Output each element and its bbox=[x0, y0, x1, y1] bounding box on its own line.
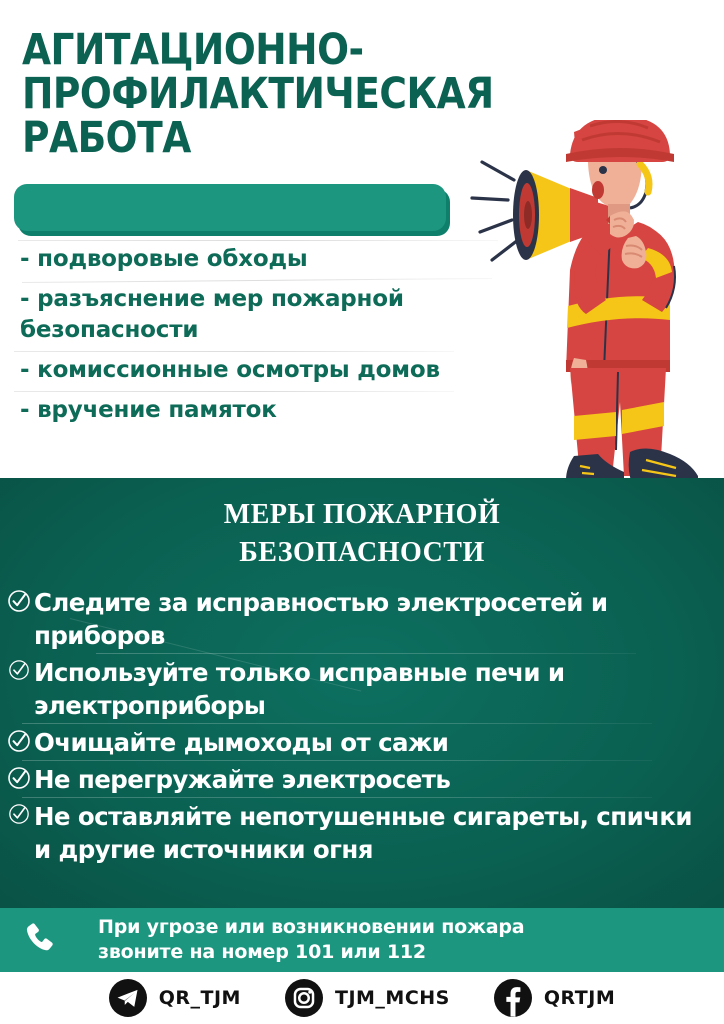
accent-bar bbox=[14, 184, 450, 236]
check-circle-icon bbox=[6, 763, 32, 794]
list-item-label: Используйте только исправные печи и элек… bbox=[34, 656, 702, 722]
list-item-label: Очищайте дымоходы от сажи bbox=[34, 726, 702, 759]
emergency-line-2: звоните на номер 101 или 112 bbox=[98, 940, 524, 965]
check-circle-icon bbox=[6, 656, 32, 687]
section-title-line-2: БЕЗОПАСНОСТИ bbox=[0, 534, 724, 572]
divider bbox=[96, 653, 636, 654]
list-item: Не перегружайте электросеть bbox=[0, 763, 724, 796]
social-links-bar: QR_TJM TJM_MCHS QRTJM bbox=[0, 972, 724, 1024]
emergency-text: При угрозе или возникновении пожара звон… bbox=[70, 915, 524, 965]
social-entry-facebook[interactable]: QRTJM bbox=[494, 979, 615, 1017]
fire-safety-measures-section: МЕРЫ ПОЖАРНОЙ БЕЗОПАСНОСТИ Следите за ис… bbox=[0, 478, 724, 908]
top-section: АГИТАЦИОННО-ПРОФИЛАКТИЧЕСКАЯ РАБОТА - по… bbox=[0, 0, 724, 478]
divider bbox=[22, 797, 652, 798]
firefighter-with-megaphone-illustration bbox=[470, 120, 724, 495]
social-handle: QR_TJM bbox=[159, 987, 241, 1009]
list-item: Очищайте дымоходы от сажи bbox=[0, 726, 724, 759]
social-entry-telegram[interactable]: QR_TJM bbox=[109, 979, 241, 1017]
list-item-label: Не перегружайте электросеть bbox=[34, 763, 702, 796]
page-title: АГИТАЦИОННО-ПРОФИЛАКТИЧЕСКАЯ РАБОТА bbox=[22, 28, 526, 160]
emergency-line-1: При угрозе или возникновении пожара bbox=[98, 915, 524, 940]
emergency-contact-bar: При угрозе или возникновении пожара звон… bbox=[0, 908, 724, 972]
phone-icon bbox=[0, 920, 70, 960]
check-circle-icon bbox=[6, 800, 32, 831]
list-item: Используйте только исправные печи и элек… bbox=[0, 656, 724, 722]
list-item: Не оставляйте непотушенные сигареты, спи… bbox=[0, 800, 724, 866]
list-item: - комиссионные осмотры домов bbox=[0, 352, 540, 391]
section-title: МЕРЫ ПОЖАРНОЙ БЕЗОПАСНОСТИ bbox=[0, 496, 724, 572]
list-item: Следите за исправностью электросетей и п… bbox=[0, 586, 724, 652]
divider bbox=[22, 760, 652, 761]
list-item: - вручение памяток bbox=[0, 392, 540, 431]
accent-bar-fill bbox=[14, 184, 446, 231]
activity-list: - подворовые обходы - разъяснение мер по… bbox=[0, 240, 540, 431]
list-item-label: Не оставляйте непотушенные сигареты, спи… bbox=[34, 800, 702, 866]
list-item-label: Следите за исправностью электросетей и п… bbox=[34, 586, 702, 652]
section-title-line-1: МЕРЫ ПОЖАРНОЙ bbox=[0, 496, 724, 534]
list-item: - подворовые обходы bbox=[0, 241, 540, 280]
telegram-icon[interactable] bbox=[109, 979, 147, 1017]
list-item: - разъяснение мер пожарной безопасности bbox=[0, 281, 540, 351]
social-handle: QRTJM bbox=[544, 987, 615, 1009]
instagram-icon[interactable] bbox=[285, 979, 323, 1017]
social-handle: TJM_MCHS bbox=[335, 987, 450, 1009]
divider bbox=[22, 723, 652, 724]
check-circle-icon bbox=[6, 586, 32, 617]
social-entry-instagram[interactable]: TJM_MCHS bbox=[285, 979, 450, 1017]
facebook-icon[interactable] bbox=[494, 979, 532, 1017]
measures-list: Следите за исправностью электросетей и п… bbox=[0, 586, 724, 866]
poster-root: АГИТАЦИОННО-ПРОФИЛАКТИЧЕСКАЯ РАБОТА - по… bbox=[0, 0, 724, 1024]
check-circle-icon bbox=[6, 726, 32, 757]
